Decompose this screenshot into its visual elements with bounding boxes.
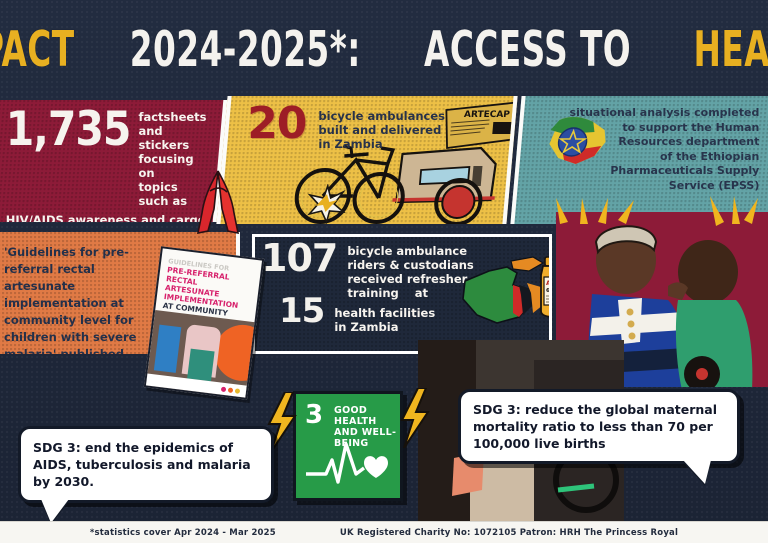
speech-bubble-aids: SDG 3: end the epidemics of AIDS, tuberc… xyxy=(18,426,274,503)
bicycles-line-3: in Zambia xyxy=(318,137,445,151)
riders-line-1: bicycle ambulance xyxy=(347,244,473,258)
sdg-badge-number: 3 xyxy=(305,402,323,428)
title-part-impact: IMPACT xyxy=(0,26,75,75)
riders-line-2: riders & custodians xyxy=(347,258,473,272)
footer-charity-info: UK Registered Charity No: 1072105 Patron… xyxy=(340,528,678,538)
stat-riders-number: 107 xyxy=(261,241,337,276)
ethiopia-line-2: to support the Human xyxy=(531,121,759,136)
footer: *statistics cover Apr 2024 - Mar 2025 UK… xyxy=(0,521,768,543)
booklet-logo-dots xyxy=(221,387,240,394)
ethiopia-line-5: Pharmaceuticals Supply xyxy=(531,164,759,179)
footer-statistics-note: *statistics cover Apr 2024 - Mar 2025 xyxy=(90,528,276,538)
bubble-aids-text: SDG 3: end the epidemics of AIDS, tuberc… xyxy=(33,439,259,490)
panel-mother-child-photo xyxy=(556,212,768,387)
factsheets-line-2: and stickers xyxy=(138,124,206,152)
title-part-access: ACCESS TO xyxy=(424,26,643,75)
panel-guidelines: 'Guidelines for pre-referral rectal arte… xyxy=(0,232,240,354)
riders-line-3: received refresher xyxy=(347,272,473,286)
ethiopia-line-3: Resources department xyxy=(531,135,759,150)
factsheets-line-1: factsheets xyxy=(138,110,206,124)
panel-ethiopia-situational-analysis: situational analysis completed to suppor… xyxy=(510,96,768,224)
title-part-healthcare: HEALTHCARE xyxy=(694,26,768,75)
panel-riders-training: 107 bicycle ambulance riders & custodian… xyxy=(252,234,552,354)
factsheets-line-3: focusing on xyxy=(138,152,206,180)
halftone-overlay xyxy=(556,212,768,387)
title-part-years: 2024-2025*: xyxy=(118,26,373,75)
factsheets-body-text: HIV/AIDS awareness and cargo security di… xyxy=(6,213,206,222)
lightning-bolt-icon xyxy=(398,388,432,448)
heartbeat-heart-icon xyxy=(304,440,398,492)
panel-factsheets: 1,735 factsheets and stickers focusing o… xyxy=(0,100,227,222)
stat-bicycles-number: 20 xyxy=(247,104,306,144)
bubble-tail xyxy=(41,499,69,523)
bicycles-line-1: bicycle ambulances xyxy=(318,109,445,123)
sdg-badge-label-line1: GOOD HEALTH xyxy=(334,405,402,427)
bubble-maternal-text: SDG 3: reduce the global maternal mortal… xyxy=(473,401,725,452)
ethiopia-line-6: Service (EPSS) xyxy=(531,179,759,194)
page-title: OUR IMPACT 2024-2025*: ACCESS TO HEALTHC… xyxy=(0,24,768,76)
panel-bicycle-ambulances: 20 bicycle ambulances built and delivere… xyxy=(216,96,517,224)
mother-and-child-photo xyxy=(556,212,768,387)
factsheets-line-4: topics such as xyxy=(138,180,206,208)
bicycles-line-2: built and delivered xyxy=(318,123,445,137)
guidelines-text: 'Guidelines for pre-referral rectal arte… xyxy=(4,244,156,354)
sparkle-starburst-icon xyxy=(304,184,347,224)
speech-bubble-maternal: SDG 3: reduce the global maternal mortal… xyxy=(458,389,740,464)
stat-facilities-number: 15 xyxy=(279,296,324,327)
infographic-canvas: OUR IMPACT 2024-2025*: ACCESS TO HEALTHC… xyxy=(0,0,768,543)
ethiopia-line-1: situational analysis completed xyxy=(531,106,759,121)
facilities-line-1: health facilities xyxy=(334,306,435,320)
facilities-line-2: in Zambia xyxy=(334,320,435,334)
stat-factsheets-number: 1,735 xyxy=(6,108,131,151)
sdg-3-badge[interactable]: 3 GOOD HEALTH AND WELL-BEING xyxy=(293,391,403,501)
ethiopia-line-4: of the Ethiopian xyxy=(531,150,759,165)
bubble-tail xyxy=(683,460,711,484)
